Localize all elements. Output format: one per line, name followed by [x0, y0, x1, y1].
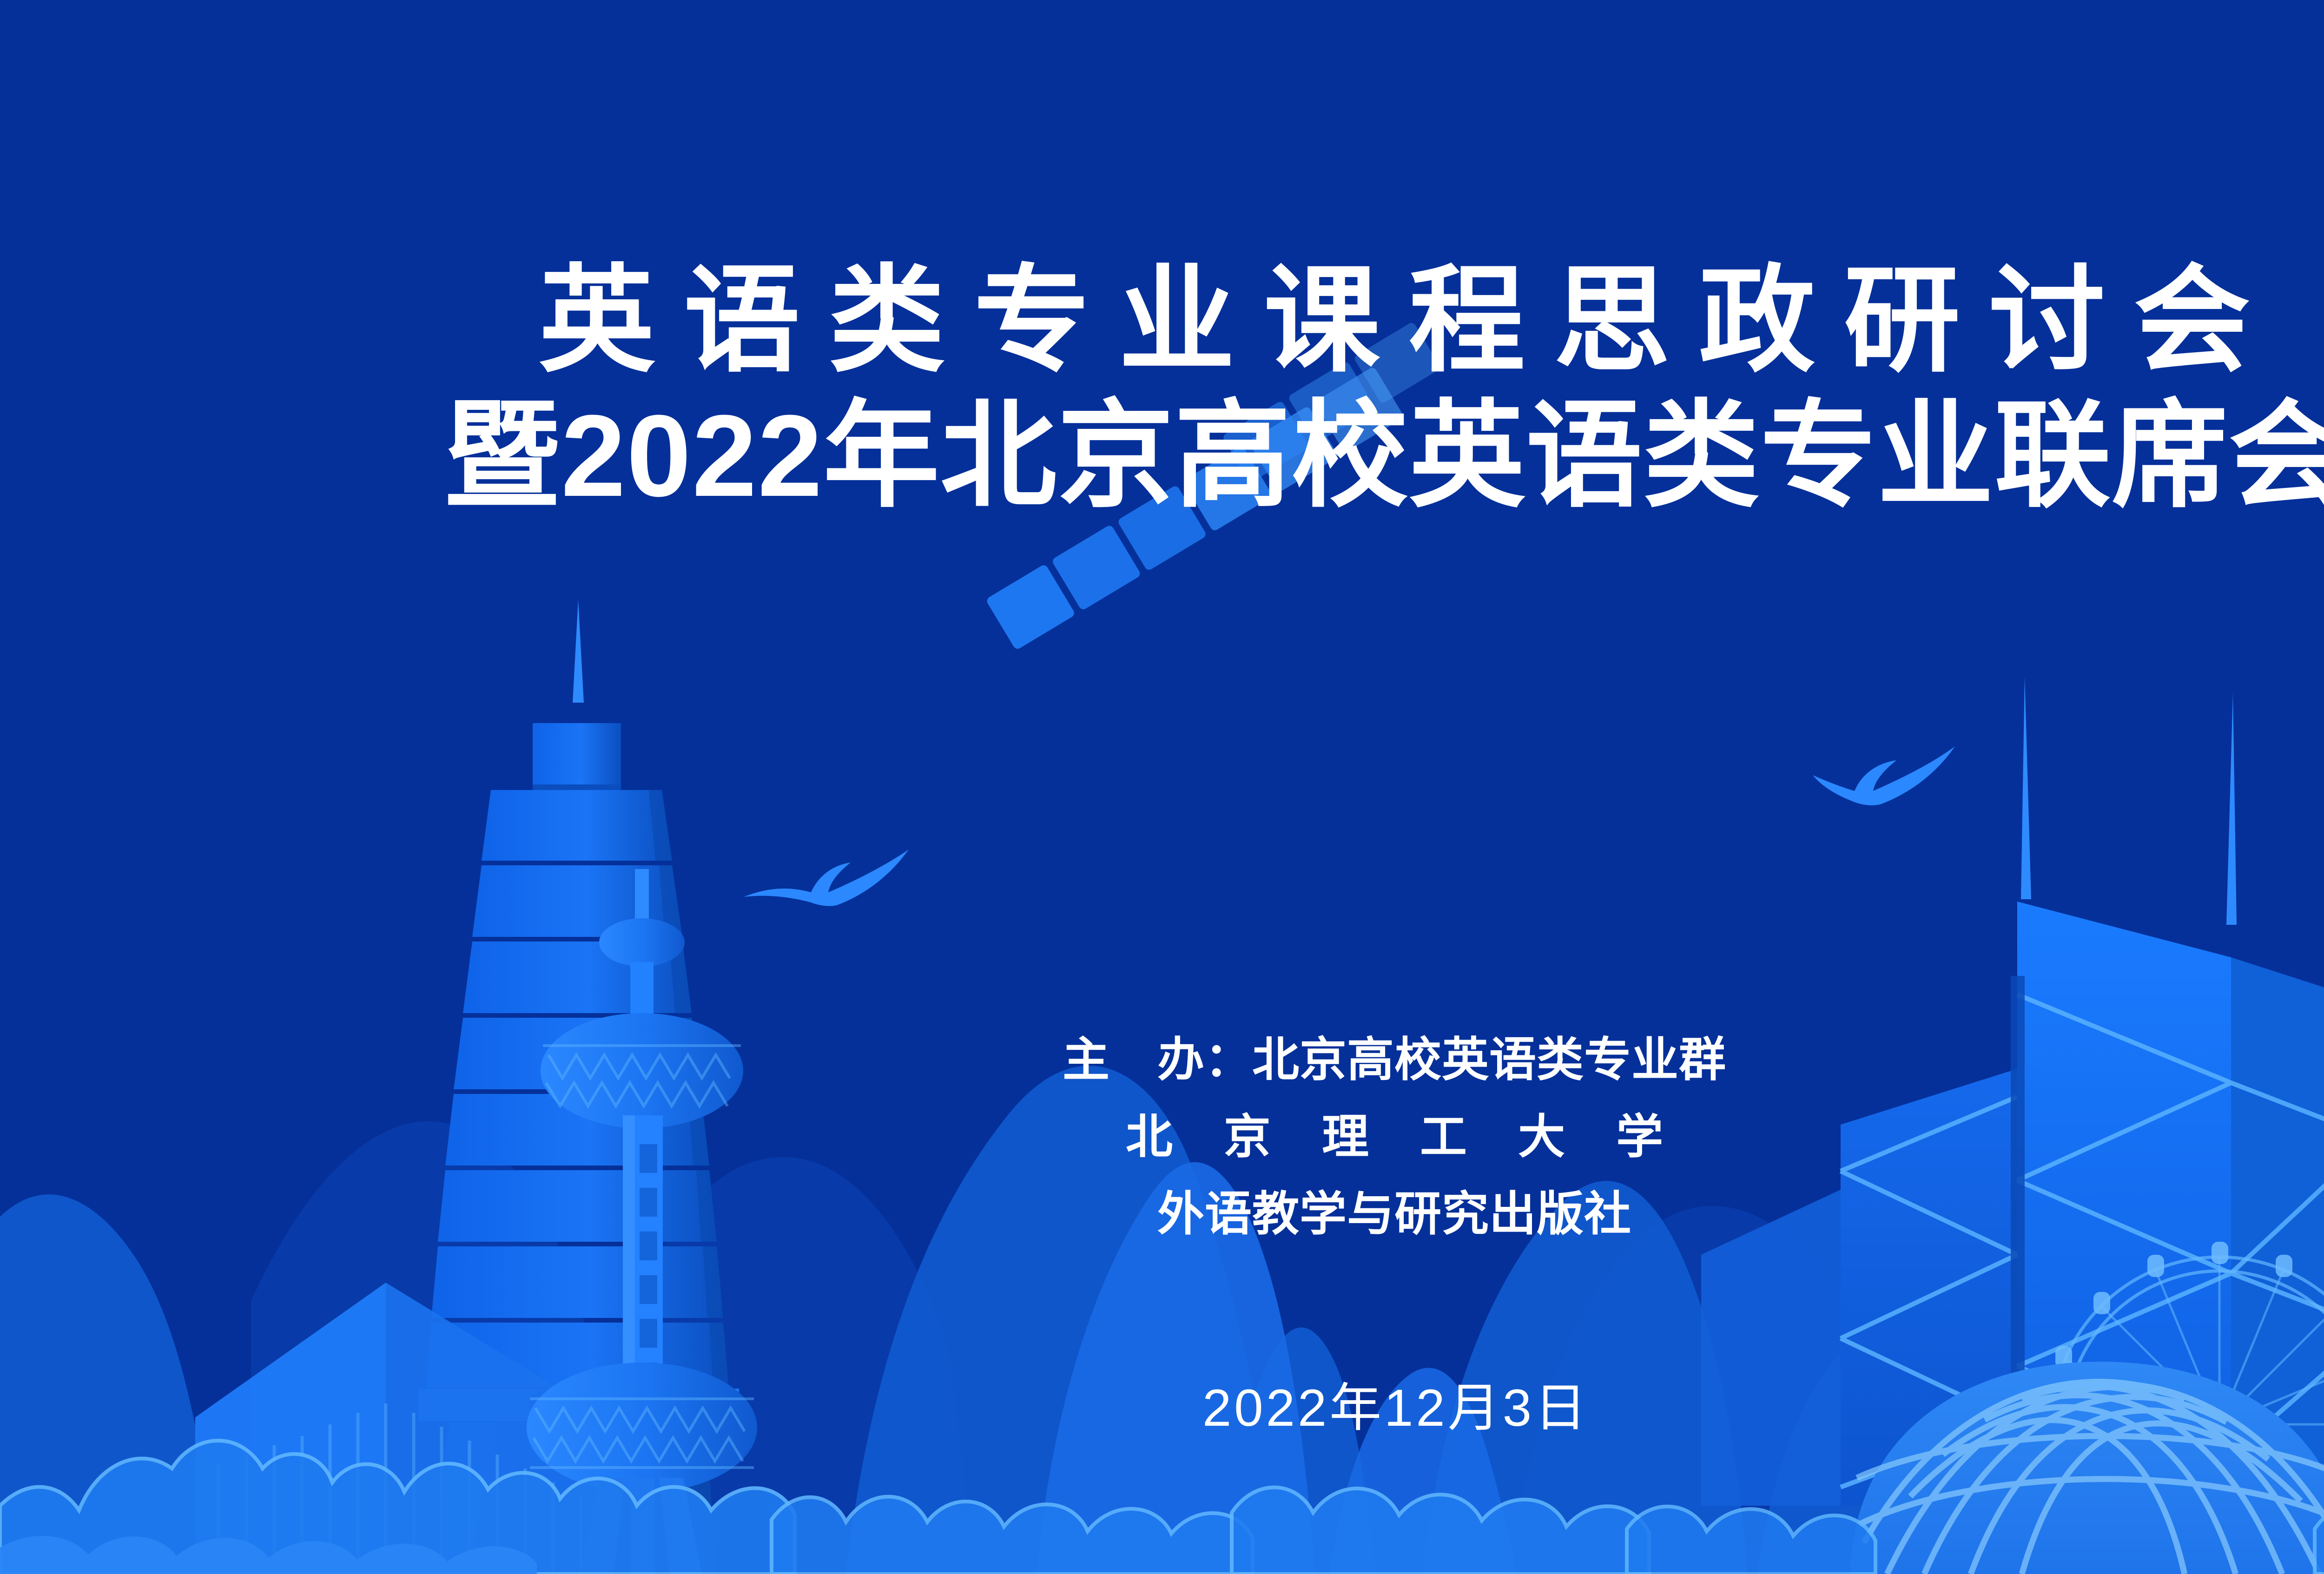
page-title: 英语类专业课程思政研讨会 暨2022年北京高校英语类专业联席会: [0, 258, 2324, 518]
event-date: 2022年12月3日: [0, 1373, 2324, 1443]
organizer-line-2: 北 京 理 工 大 学: [0, 1099, 2324, 1176]
title-line-1: 英语类专业课程思政研讨会: [0, 258, 2324, 383]
event-date-block: 2022年12月3日: [0, 1373, 2324, 1443]
poster-canvas: 英语类专业课程思政研讨会 暨2022年北京高校英语类专业联席会 主 办：北京高校…: [0, 0, 2324, 1574]
poster-text-layer: 英语类专业课程思政研讨会 暨2022年北京高校英语类专业联席会 主 办：北京高校…: [0, 0, 2324, 1574]
organizers-block: 主 办：北京高校英语类专业群 北 京 理 工 大 学 外语教学与研究出版社: [0, 1021, 2324, 1253]
organizer-line-1: 主 办：北京高校英语类专业群: [0, 1021, 2324, 1099]
title-line-2: 暨2022年北京高校英语类专业联席会: [0, 394, 2324, 518]
organizer-line-3: 外语教学与研究出版社: [0, 1176, 2324, 1253]
